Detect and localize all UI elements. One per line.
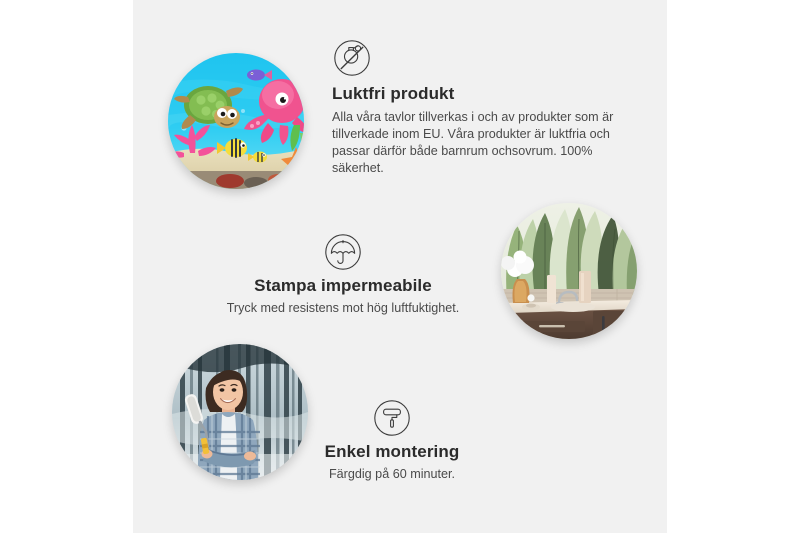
aquarium-wallpaper-photo [168, 53, 304, 189]
no-fragrance-icon [332, 38, 372, 78]
feature-heading: Stampa impermeabile [198, 276, 488, 296]
feature-body: Tryck med resistens mot hög luftfuktighe… [198, 300, 488, 317]
feature-waterproof: Stampa impermeabile Tryck med resistens … [198, 232, 488, 317]
promo-banner: Luktfri produkt Alla våra tavlor tillver… [0, 0, 800, 533]
painter-woman-photo [172, 344, 308, 480]
feature-heading: Enkel montering [292, 442, 492, 462]
bathroom-wallpaper-photo [501, 203, 637, 339]
feature-assembly: Enkel montering Färgdig på 60 minuter. [292, 398, 492, 483]
feature-odourless: Luktfri produkt Alla våra tavlor tillver… [332, 38, 622, 177]
umbrella-icon [323, 232, 363, 272]
feature-body: Alla våra tavlor tillverkas i och av pro… [332, 109, 622, 177]
feature-heading: Luktfri produkt [332, 84, 622, 104]
feature-body: Färgdig på 60 minuter. [292, 466, 492, 483]
paint-roller-icon [372, 398, 412, 438]
